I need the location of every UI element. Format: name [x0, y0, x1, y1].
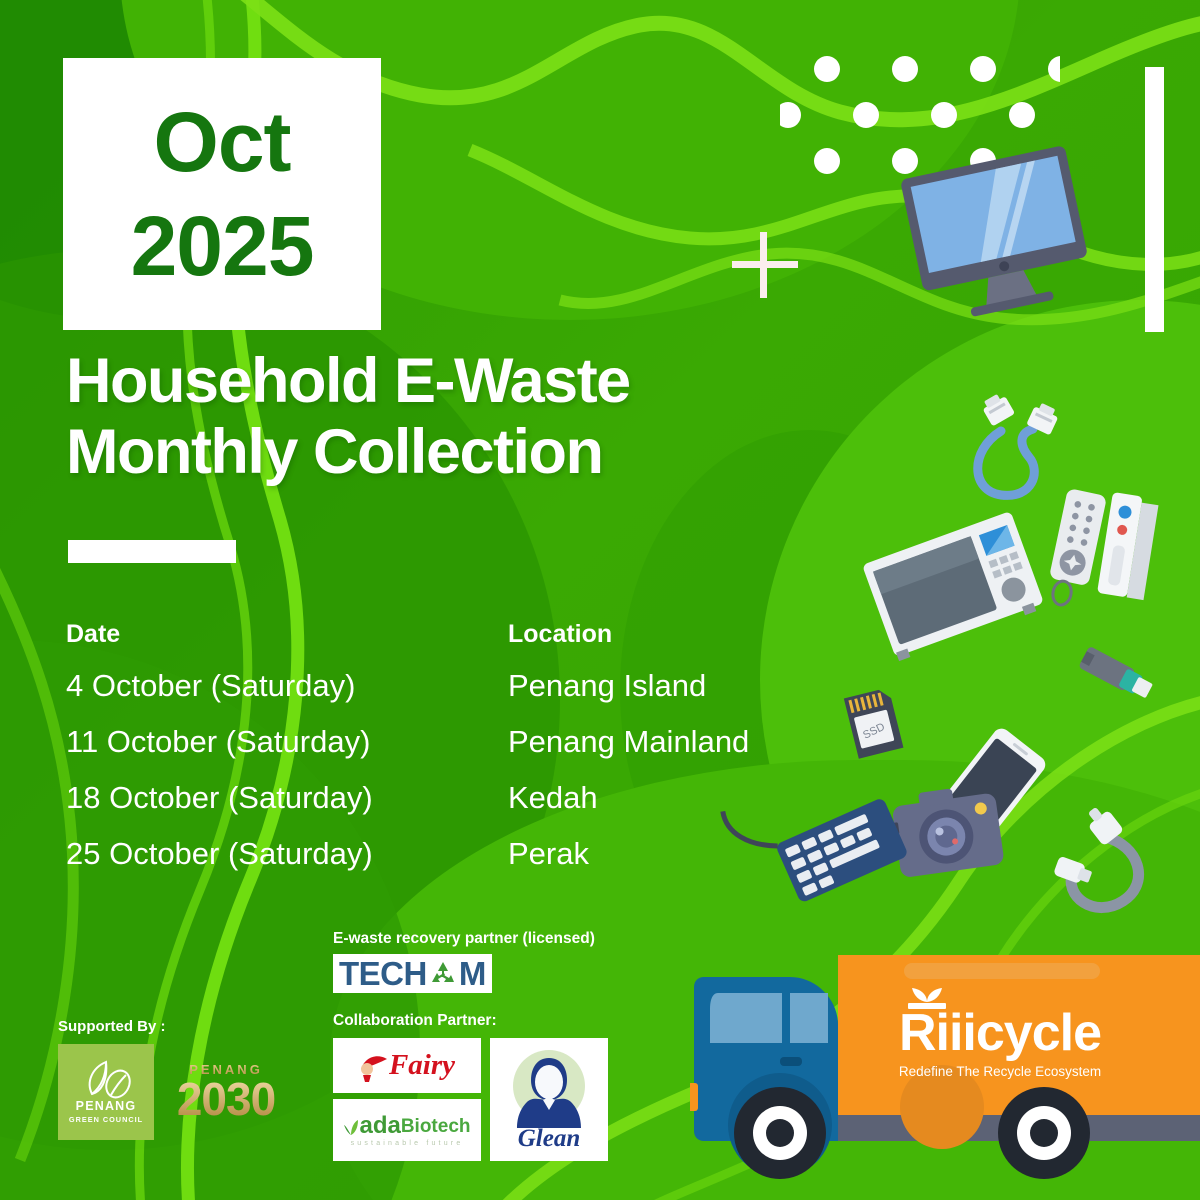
penang-2030-logo: PENANG 2030	[166, 1063, 286, 1122]
remote-control-icon	[1044, 488, 1107, 610]
leaf-icon	[80, 1060, 132, 1100]
column-header-location: Location	[508, 620, 866, 649]
schedule-table: Date Location 4 October (Saturday) Penan…	[66, 620, 866, 892]
partner-logo-glean: Glean	[490, 1038, 608, 1161]
monitor-icon	[900, 145, 1095, 326]
cell-date: 25 October (Saturday)	[66, 836, 508, 872]
column-header-date: Date	[66, 620, 508, 649]
recovery-partner-section: E-waste recovery partner (licensed) TECH…	[333, 930, 633, 993]
partner-tagline-ada: sustainable future	[351, 1140, 464, 1147]
cell-date: 4 October (Saturday)	[66, 668, 508, 704]
table-row: 4 October (Saturday) Penang Island	[66, 668, 866, 704]
microwave-icon	[862, 511, 1046, 662]
game-remote-icon	[1097, 492, 1159, 600]
partner-logo-fairy: Fairy	[333, 1038, 481, 1093]
fairy-mascot-icon	[359, 1049, 389, 1083]
camera-icon	[880, 783, 1004, 880]
poster-root: SSD	[0, 0, 1200, 1200]
truck-branding: Riiicycle Redefine The Recycle Ecosystem	[875, 985, 1125, 1079]
penang-green-council-logo: PENANG GREEN COUNCIL	[58, 1044, 154, 1140]
techom-logo: TECH M	[333, 954, 492, 993]
cell-date: 11 October (Saturday)	[66, 724, 508, 760]
schedule-header-row: Date Location	[66, 620, 866, 649]
date-card-year: 2025	[131, 204, 314, 288]
ethernet-cable-icon	[978, 391, 1061, 495]
truck-brand-name: Riiicycle	[875, 1007, 1125, 1059]
pgc-subtitle: GREEN COUNCIL	[69, 1115, 143, 1124]
headline-line-1: Household E-Waste	[66, 346, 866, 417]
headline-line-2: Monthly Collection	[66, 417, 866, 488]
partner-name-ada-suffix: Biotech	[401, 1116, 471, 1138]
table-row: 11 October (Saturday) Penang Mainland	[66, 724, 866, 760]
table-row: 18 October (Saturday) Kedah	[66, 780, 866, 816]
penang-2030-year: 2030	[166, 1076, 286, 1122]
date-card-month: Oct	[153, 100, 290, 184]
title-divider	[68, 540, 236, 563]
partner-name-fairy: Fairy	[389, 1051, 455, 1080]
table-row: 25 October (Saturday) Perak	[66, 836, 866, 872]
collaboration-partner-section: Collaboration Partner: Fairy	[333, 1012, 623, 1161]
recovery-partner-label: E-waste recovery partner (licensed)	[333, 930, 633, 948]
techom-prefix: TECH	[339, 957, 427, 990]
cell-location: Penang Island	[508, 668, 866, 704]
charging-cable-icon	[1053, 802, 1139, 908]
techom-suffix: M	[459, 957, 486, 990]
collaboration-partner-label: Collaboration Partner:	[333, 1012, 623, 1030]
svg-text:Glean: Glean	[518, 1125, 581, 1152]
page-title: Household E-Waste Monthly Collection	[66, 346, 866, 487]
cell-location: Kedah	[508, 780, 866, 816]
supported-by-section: Supported By : PENANG GREEN COUNCIL PENA…	[58, 1018, 328, 1140]
leaf-sprout-icon	[343, 1119, 359, 1135]
glean-mascot-icon: Glean	[497, 1044, 601, 1156]
recycle-icon	[428, 959, 458, 989]
partner-logo-ada-biotech: ada Biotech sustainable future	[333, 1099, 481, 1161]
date-card: Oct 2025	[63, 58, 381, 330]
cell-location: Penang Mainland	[508, 724, 866, 760]
pgc-name: PENANG	[76, 1100, 137, 1114]
cell-date: 18 October (Saturday)	[66, 780, 508, 816]
partner-name-ada: ada	[359, 1114, 400, 1138]
supported-by-label: Supported By :	[58, 1018, 328, 1035]
cell-location: Perak	[508, 836, 866, 872]
usb-drive-icon	[1078, 646, 1155, 702]
truck-brand-tagline: Redefine The Recycle Ecosystem	[875, 1064, 1125, 1079]
